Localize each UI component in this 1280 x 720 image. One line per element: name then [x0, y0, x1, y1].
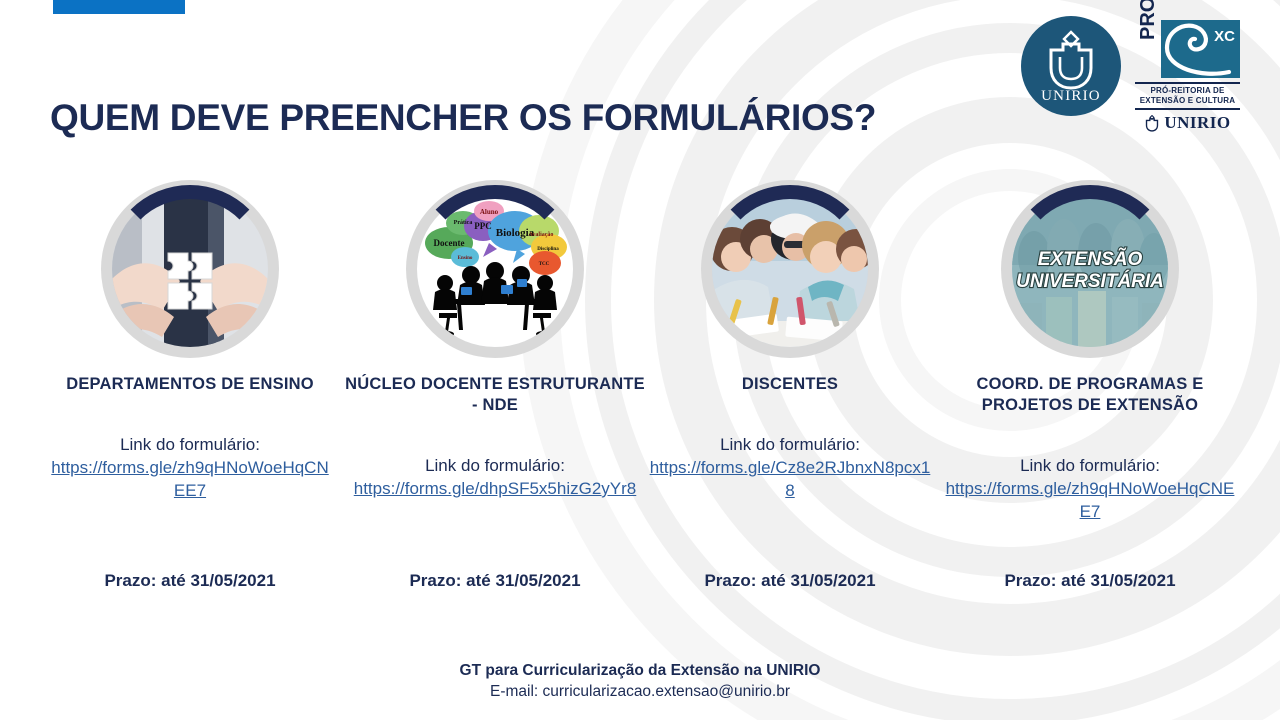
- form-link[interactable]: https://forms.gle/Cz8e2RJbnxN8pcx18: [640, 456, 940, 502]
- proexc-subtitle-line1: PRÓ-REITORIA DE: [1135, 86, 1240, 96]
- proexc-unirio-lockup: UNIRIO: [1135, 113, 1240, 133]
- column-discentes: DISCENTES Link do formulário: https://fo…: [640, 180, 940, 502]
- unirio-wordmark: UNIRIO: [1021, 88, 1121, 105]
- circle-image-departamentos: [101, 180, 279, 358]
- svg-text:PPC: PPC: [474, 221, 492, 231]
- column-caption: NÚCLEO DOCENTE ESTRUTURANTE - NDE: [345, 374, 645, 416]
- footer-group-name: GT para Curricularização da Extensão na …: [0, 660, 1280, 681]
- proexc-divider-bottom: [1135, 108, 1240, 110]
- unirio-u-icon: [1042, 30, 1100, 92]
- page-title: QUEM DEVE PREENCHER OS FORMULÁRIOS?: [50, 97, 876, 139]
- deadline-coord: Prazo: até 31/05/2021: [935, 571, 1245, 591]
- deadline-nde: Prazo: até 31/05/2021: [345, 571, 645, 591]
- svg-text:UNIVERSITÁRIA: UNIVERSITÁRIA: [1016, 270, 1164, 292]
- logo-group: UNIRIO PRO XC PRÓ-REITORIA DE EXTENSÃO E…: [1021, 16, 1240, 131]
- column-coord-programas-projetos: EXTENSÃO UNIVERSITÁRIA COORD. DE PROGRAM…: [935, 180, 1245, 523]
- column-caption: DISCENTES: [640, 374, 940, 395]
- proexc-unirio-wordmark: UNIRIO: [1164, 113, 1230, 133]
- photo-extensao-universitaria: EXTENSÃO UNIVERSITÁRIA: [1012, 191, 1168, 347]
- accent-bar: [53, 0, 185, 14]
- form-link[interactable]: https://forms.gle/zh9qHNoWoeHqCNEE7: [935, 477, 1245, 523]
- proexc-divider: [1135, 82, 1240, 84]
- form-link[interactable]: https://forms.gle/dhpSF5x5hizG2yYr8: [345, 477, 645, 500]
- deadline-discentes: Prazo: até 31/05/2021: [640, 571, 940, 591]
- link-label: Link do formulário:: [935, 454, 1245, 477]
- svg-text:Ensino: Ensino: [458, 256, 473, 261]
- link-label: Link do formulário:: [640, 433, 940, 456]
- circle-image-nde: Docente Prática PPC Aluno Biologia Avali…: [406, 180, 584, 358]
- deadline-departamentos: Prazo: até 31/05/2021: [40, 571, 340, 591]
- svg-text:Docente: Docente: [434, 238, 465, 248]
- svg-text:Disciplina: Disciplina: [537, 247, 559, 252]
- svg-text:Aluno: Aluno: [480, 208, 499, 216]
- circle-image-extensao: EXTENSÃO UNIVERSITÁRIA: [1001, 180, 1179, 358]
- circle-image-discentes: [701, 180, 879, 358]
- unirio-logo: UNIRIO: [1021, 16, 1121, 116]
- svg-text:EXTENSÃO: EXTENSÃO: [1038, 248, 1143, 270]
- proexc-emblem-box: XC: [1161, 20, 1240, 78]
- proexc-logo: PRO XC PRÓ-REITORIA DE EXTENSÃO E CULTUR…: [1135, 18, 1240, 133]
- photo-hands-puzzle: [112, 191, 268, 347]
- svg-text:Avaliação: Avaliação: [529, 232, 554, 238]
- column-caption: DEPARTAMENTOS DE ENSINO: [40, 374, 340, 395]
- slide-canvas: QUEM DEVE PREENCHER OS FORMULÁRIOS? UNIR…: [0, 0, 1280, 720]
- photo-meeting-mindmap: Docente Prática PPC Aluno Biologia Avali…: [417, 191, 573, 347]
- form-link[interactable]: https://forms.gle/zh9qHNoWoeHqCNEE7: [40, 456, 340, 502]
- link-label: Link do formulário:: [345, 454, 645, 477]
- photo-students-studying: [712, 191, 868, 347]
- link-label: Link do formulário:: [40, 433, 340, 456]
- proexc-subtitle-line2: EXTENSÃO E CULTURA: [1135, 96, 1240, 106]
- column-departamentos-de-ensino: DEPARTAMENTOS DE ENSINO Link do formulár…: [40, 180, 340, 502]
- proexc-xc-text: XC: [1214, 28, 1235, 45]
- svg-text:Prática: Prática: [454, 220, 473, 226]
- column-nucleo-docente-estruturante: Docente Prática PPC Aluno Biologia Avali…: [345, 180, 645, 500]
- column-caption: COORD. DE PROGRAMAS E PROJETOS DE EXTENS…: [935, 374, 1245, 416]
- svg-text:TCC: TCC: [539, 262, 550, 267]
- footer: GT para Curricularização da Extensão na …: [0, 660, 1280, 702]
- footer-email: E-mail: curricularizacao.extensao@unirio…: [0, 681, 1280, 702]
- proexc-unirio-u-icon: [1144, 115, 1160, 132]
